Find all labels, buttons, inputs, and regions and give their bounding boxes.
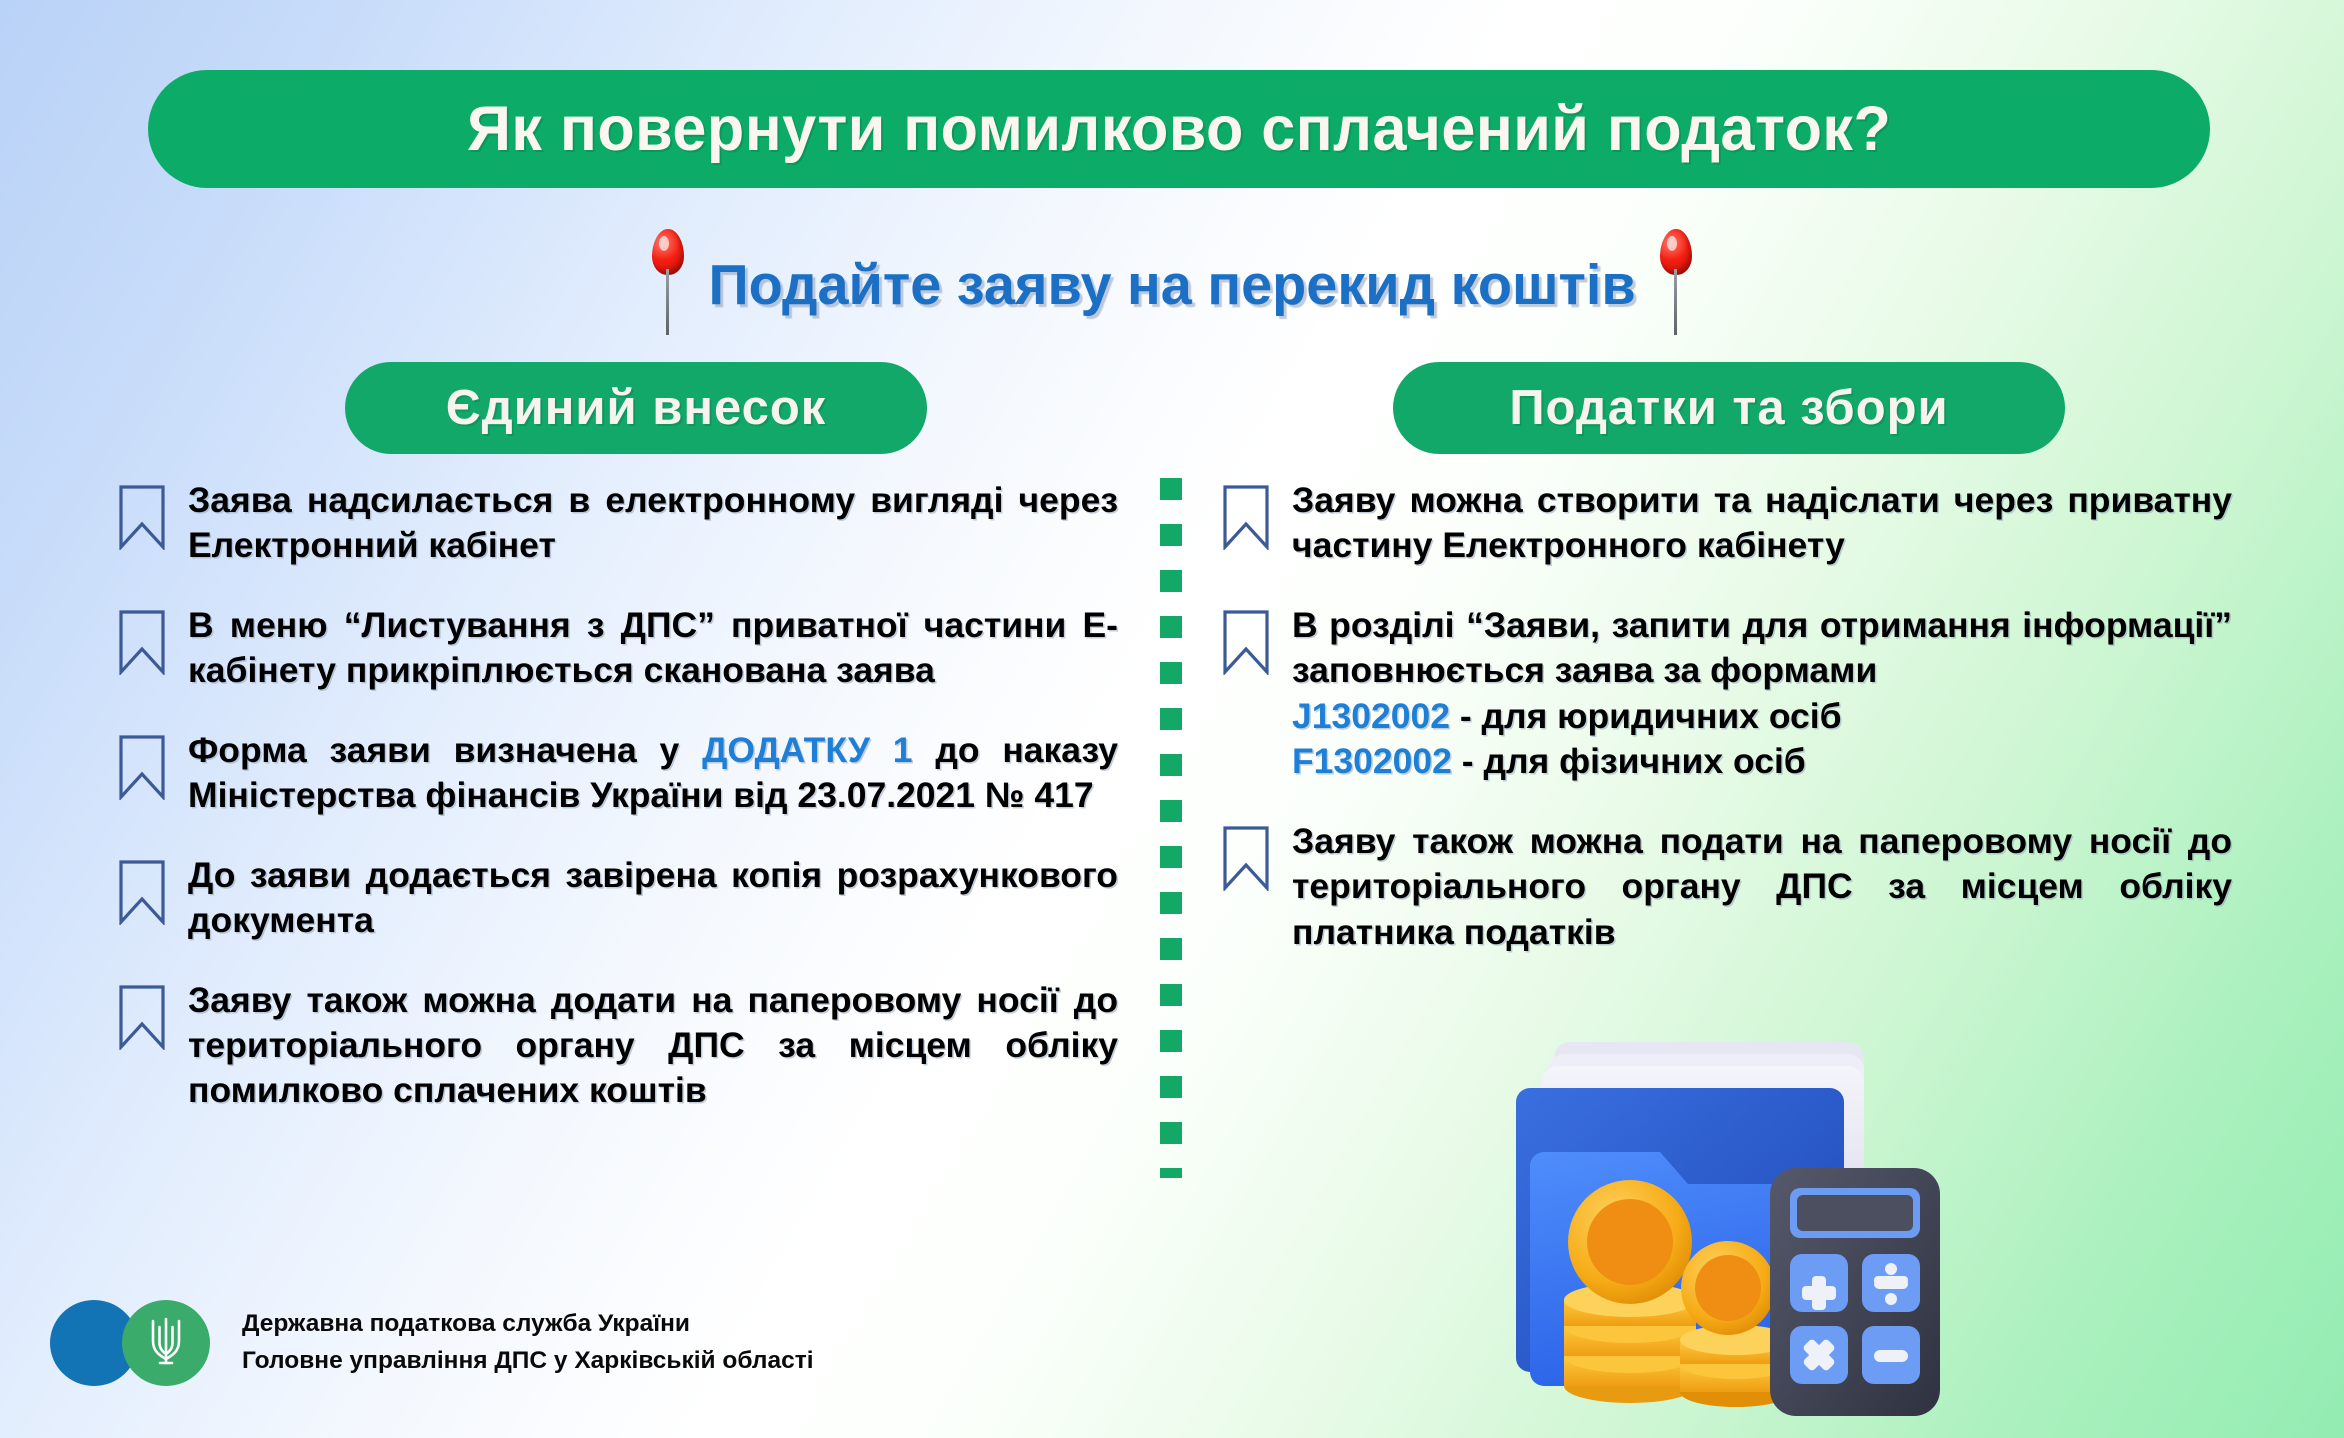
list-item-text: В меню “Листування з ДПС” приватної част… <box>188 603 1118 694</box>
bookmark-icon <box>118 484 166 550</box>
list-item: В розділі “Заяви, запити для отримання і… <box>1222 603 2232 785</box>
footer-text: Державна податкова служба України Головн… <box>242 1306 814 1380</box>
list-item-text: Заяву можна створити та надіслати через … <box>1292 478 2232 569</box>
vertical-dashed-divider <box>1160 478 1182 1178</box>
logo-green-oval <box>122 1300 210 1386</box>
page-subtitle: Подайте заяву на перекид коштів <box>708 252 1635 318</box>
map-pin-icon <box>647 229 689 341</box>
bookmark-icon <box>1222 609 1270 675</box>
bookmark-icon <box>1222 825 1270 891</box>
dps-logo-icon <box>50 1300 230 1386</box>
left-column: Заява надсилається в електронному вигляд… <box>118 478 1118 1148</box>
subtitle-row: Подайте заяву на перекид коштів <box>0 225 2344 345</box>
list-item: Заяву також можна подати на паперовому н… <box>1222 819 2232 955</box>
list-item-text: До заяви додається завірена копія розрах… <box>188 853 1118 944</box>
form-code-row: F1302002 - для фізичних осіб <box>1292 739 2232 784</box>
page-title-bar: Як повернути помилково сплачений податок… <box>148 70 2210 188</box>
list-item: В меню “Листування з ДПС” приватної част… <box>118 603 1118 694</box>
form-code-f1302002[interactable]: F1302002 <box>1292 741 1452 781</box>
form-code-desc: - для юридичних осіб <box>1450 696 1842 736</box>
list-item: Заява надсилається в електронному вигляд… <box>118 478 1118 569</box>
form-code-j1302002[interactable]: J1302002 <box>1292 696 1450 736</box>
section-header-label: Єдиний внесок <box>446 380 827 436</box>
dodatok-link[interactable]: ДОДАТКУ 1 <box>702 730 912 770</box>
list-item-text: Заяву також можна подати на паперовому н… <box>1292 819 2232 955</box>
form-code-row: J1302002 - для юридичних осіб <box>1292 694 2232 739</box>
bookmark-icon <box>118 734 166 800</box>
list-item: Заяву можна створити та надіслати через … <box>1222 478 2232 569</box>
bookmark-icon <box>118 609 166 675</box>
bookmark-icon <box>118 984 166 1050</box>
bookmark-icon <box>1222 484 1270 550</box>
section-header-podatky-ta-zbory: Податки та збори <box>1393 362 2065 454</box>
ukraine-trident-icon <box>146 1313 186 1374</box>
form-code-desc: - для фізичних осіб <box>1452 741 1806 781</box>
map-pin-icon <box>1655 229 1697 341</box>
right-column: Заяву можна створити та надіслати через … <box>1222 478 2232 989</box>
list-item-text: Заява надсилається в електронному вигляд… <box>188 478 1118 569</box>
list-item: Заяву також можна додати на паперовому н… <box>118 978 1118 1114</box>
list-item-text: Форма заяви визначена у ДОДАТКУ 1 до нак… <box>188 728 1118 819</box>
list-item: Форма заяви визначена у ДОДАТКУ 1 до нак… <box>118 728 1118 819</box>
folder-coins-calculator-illustration <box>1478 1020 1988 1420</box>
section-header-edynyi-vnesok: Єдиний внесок <box>345 362 927 454</box>
bookmark-icon <box>118 859 166 925</box>
list-item-text: Заяву також можна додати на паперовому н… <box>188 978 1118 1114</box>
footer-line-1: Державна податкова служба України <box>242 1306 814 1343</box>
footer: Державна податкова служба України Головн… <box>50 1300 814 1386</box>
list-item-text: В розділі “Заяви, запити для отримання і… <box>1292 603 2232 785</box>
footer-line-2: Головне управління ДПС у Харківській обл… <box>242 1343 814 1380</box>
section-header-label: Податки та збори <box>1509 380 1948 436</box>
text-before: Форма заяви визначена у <box>188 730 702 770</box>
list-item: До заяви додається завірена копія розрах… <box>118 853 1118 944</box>
page-title: Як повернути помилково сплачений податок… <box>467 93 1891 165</box>
list-item-main-text: В розділі “Заяви, запити для отримання і… <box>1292 605 2232 690</box>
